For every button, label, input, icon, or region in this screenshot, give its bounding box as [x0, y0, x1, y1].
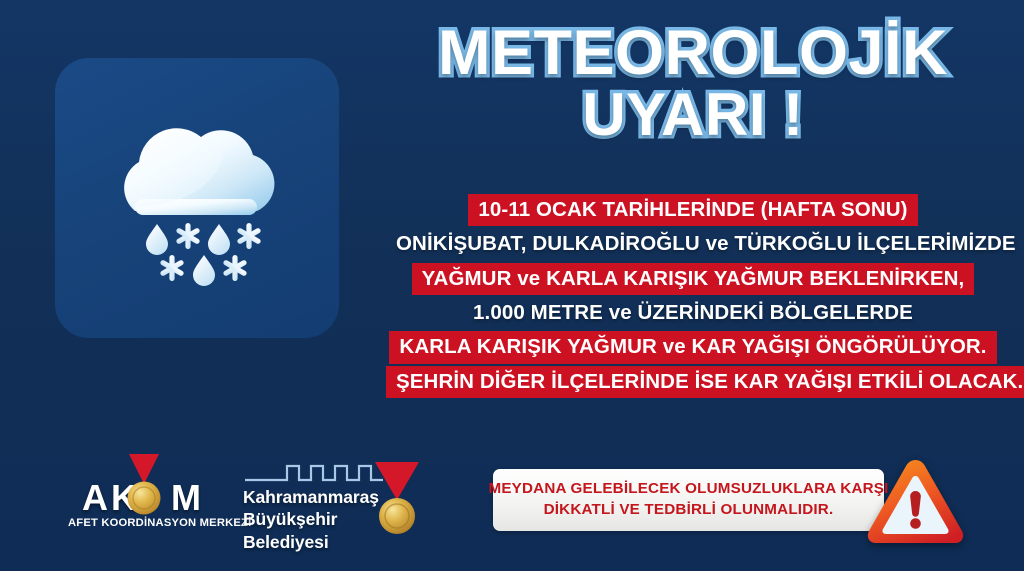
message-row: KARLA KARIŞIK YAĞMUR ve KAR YAĞIŞI ÖNGÖR… [386, 331, 1000, 363]
snowflake-icon [159, 255, 184, 281]
snowflake-icon [222, 255, 247, 281]
raindrop-icon [208, 224, 230, 255]
caution-box: MEYDANA GELEBİLECEK OLUMSUZLUKLARA KARŞI… [493, 469, 884, 531]
message-row: ONİKİŞUBAT, DULKADİROĞLU ve TÜRKOĞLU İLÇ… [386, 228, 1000, 260]
message-row: YAĞMUR ve KARLA KARIŞIK YAĞMUR BEKLENİRK… [386, 263, 1000, 295]
raindrop-icon [146, 224, 168, 255]
warning-triangle-exclamation-icon [863, 455, 968, 548]
warning-message-block: 10-11 OCAK TARİHLERİNDE (HAFTA SONU) ONİ… [386, 194, 1000, 400]
title-line-2: UYARI ! [386, 87, 1000, 143]
akom-subtitle: AFET KOORDİNASYON MERKEZİ [68, 517, 218, 529]
message-row: ŞEHRİN DİĞER İLÇELERİNDE İSE KAR YAĞIŞI … [386, 366, 1000, 398]
cloud-shape [124, 128, 274, 215]
exclamation-dot [910, 518, 921, 529]
weather-icon-panel [55, 58, 339, 338]
title-line-1: METEOROLOJİK [386, 24, 1000, 83]
message-line: YAĞMUR ve KARLA KARIŞIK YAĞMUR BEKLENİRK… [412, 263, 975, 295]
precipitation-row-1 [146, 223, 262, 255]
message-line: ONİKİŞUBAT, DULKADİROĞLU ve TÜRKOĞLU İLÇ… [386, 228, 1024, 260]
message-line: KARLA KARIŞIK YAĞMUR ve KAR YAĞIŞI ÖNGÖR… [389, 331, 996, 363]
raindrop-icon [193, 255, 215, 286]
message-line: 1.000 METRE ve ÜZERİNDEKİ BÖLGELERDE [463, 297, 923, 329]
message-line: ŞEHRİN DİĞER İLÇELERİNDE İSE KAR YAĞIŞI … [386, 366, 1024, 398]
snowflake-icon [236, 223, 261, 249]
precipitation-row-2 [159, 255, 247, 286]
message-row: 10-11 OCAK TARİHLERİNDE (HAFTA SONU) [386, 194, 1000, 226]
message-row: 1.000 METRE ve ÜZERİNDEKİ BÖLGELERDE [386, 297, 1000, 329]
medal-with-red-ribbon-icon [124, 454, 164, 518]
caution-line-2: DİKKATLİ VE TEDBİRLİ OLUNMALIDIR. [544, 500, 834, 521]
ribbon-shape [129, 454, 159, 484]
belediye-line-2: Büyükşehir Belediyesi [243, 508, 423, 553]
snowflake-icon [175, 223, 200, 249]
akom-logo: AKOM AFET KOORDİNASYON MERKEZİ [68, 456, 218, 534]
page-title: METEOROLOJİK UYARI ! [386, 24, 1000, 142]
message-line: 10-11 OCAK TARİHLERİNDE (HAFTA SONU) [468, 194, 917, 226]
cloud-with-rain-and-snow-icon [97, 103, 297, 293]
caution-line-1: MEYDANA GELEBİLECEK OLUMSUZLUKLARA KARŞI [488, 479, 888, 500]
belediye-line-1: Kahramanmaraş [243, 486, 423, 508]
belediye-logo: Kahramanmaraş Büyükşehir Belediyesi [243, 458, 423, 538]
akom-wordmark-part2: M [171, 477, 204, 518]
belediye-text: Kahramanmaraş Büyükşehir Belediyesi [243, 486, 423, 553]
